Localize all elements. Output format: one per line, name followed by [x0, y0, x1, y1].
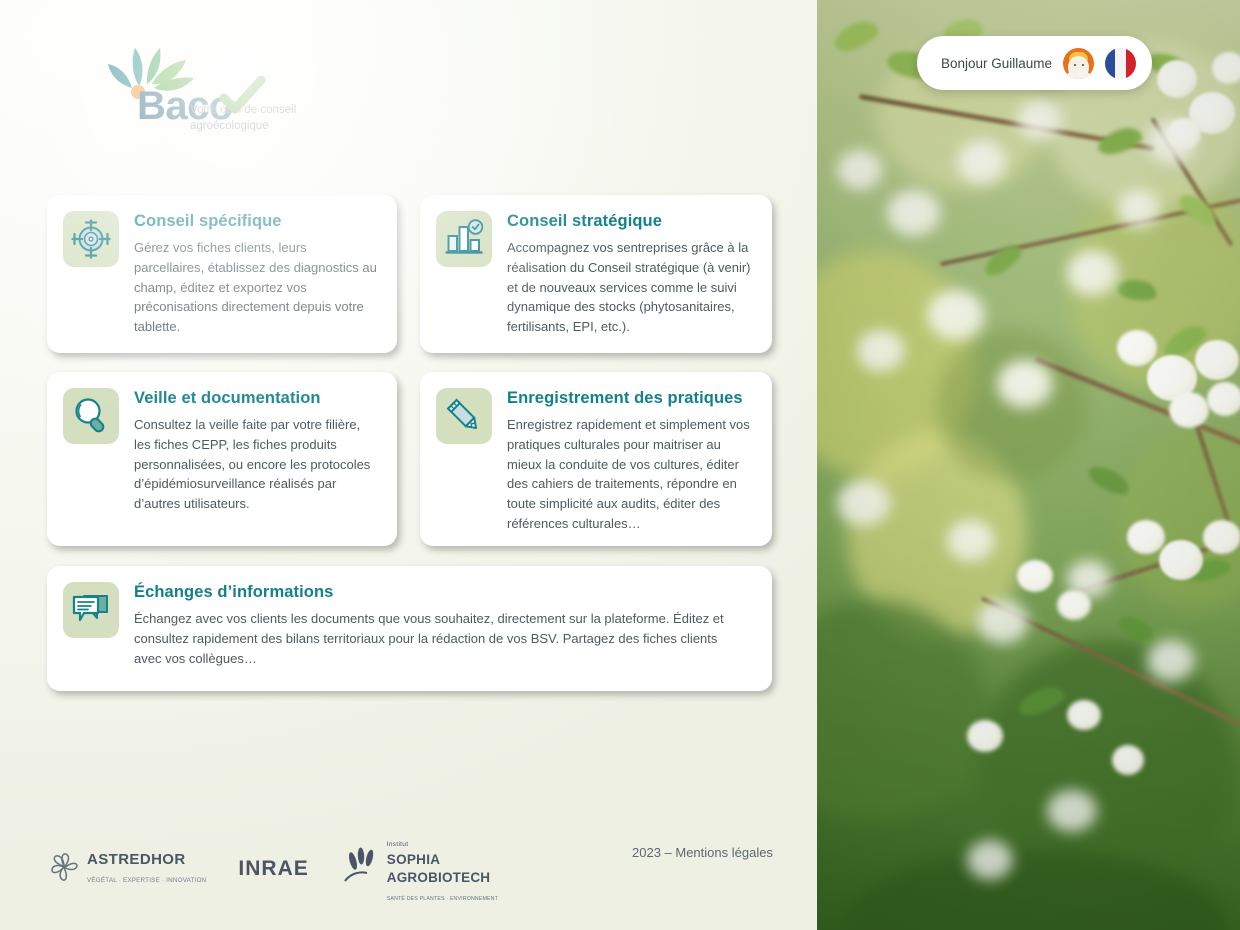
astredhor-flower-logo-icon	[47, 850, 81, 889]
partner-logo-inrae[interactable]: INRAE	[238, 857, 308, 881]
sophia-institut-label: Institut	[387, 841, 409, 848]
avatar-eye-left	[1074, 64, 1076, 66]
card-veille-documentation[interactable]: Veille et documentation Consultez la vei…	[47, 372, 397, 546]
card-title: Conseil spécifique	[134, 212, 379, 231]
chat-bubbles-icon	[63, 582, 119, 638]
brand-tagline: Votre outil de conseil agroécologique	[190, 103, 325, 134]
sophia-name: SOPHIA	[387, 852, 441, 867]
hero-photo	[817, 0, 1240, 930]
target-icon	[63, 211, 119, 267]
bar-chart-check-icon	[436, 211, 492, 267]
sophia-agrobiotech-name: AGROBIOTECH	[387, 870, 490, 885]
card-title: Veille et documentation	[134, 389, 379, 408]
card-echanges-informations[interactable]: Échanges d’informations Échangez avec vo…	[47, 566, 772, 691]
card-conseil-specifique[interactable]: Conseil spécifique Gérez vos fiches clie…	[47, 195, 397, 353]
astredhor-name: ASTREDHOR	[87, 851, 186, 868]
card-title: Échanges d’informations	[134, 583, 754, 602]
card-text: Enregistrez rapidement et simplement vos…	[507, 415, 754, 534]
card-title: Conseil stratégique	[507, 212, 754, 231]
card-conseil-strategique[interactable]: Conseil stratégique Accompagnez vos sent…	[420, 195, 772, 353]
card-enregistrement-pratiques[interactable]: Enregistrement des pratiques Enregistrez…	[420, 372, 772, 546]
partner-logo-sophia-agrobiotech[interactable]: Institut SOPHIA AGROBIOTECH SANTÉ DES PL…	[341, 833, 498, 905]
pencil-icon	[436, 388, 492, 444]
card-text: Gérez vos fiches clients, leurs parcella…	[134, 238, 379, 337]
legal-notice-link[interactable]: 2023 – Mentions légales	[632, 845, 773, 860]
card-text: Accompagnez vos sentreprises grâce à la …	[507, 238, 754, 337]
greeting-text: Bonjour Guillaume	[941, 56, 1052, 71]
sophia-leaves-logo-icon	[341, 845, 381, 894]
card-text: Échangez avec vos clients les documents …	[134, 609, 744, 668]
partner-logo-astredhor[interactable]: ASTREDHOR VÉGÉTAL · EXPERTISE · INNOVATI…	[47, 850, 206, 889]
avatar-eye-right	[1082, 64, 1084, 66]
partner-logos: ASTREDHOR VÉGÉTAL · EXPERTISE · INNOVATI…	[47, 838, 498, 900]
astredhor-subtitle: VÉGÉTAL · EXPERTISE · INNOVATION	[87, 877, 206, 884]
greeting-pill[interactable]: Bonjour Guillaume	[917, 36, 1152, 90]
magnifier-icon	[63, 388, 119, 444]
left-content-panel: Baco Votre outil de conseil agroécologiq…	[0, 0, 817, 930]
flag-france-icon[interactable]	[1105, 48, 1136, 79]
avatar-shirt	[1065, 72, 1092, 79]
sophia-subtitle: SANTÉ DES PLANTES · ENVIRONNEMENT	[387, 896, 498, 902]
inrae-name: INRAE	[238, 857, 308, 881]
user-avatar[interactable]	[1063, 48, 1094, 79]
card-title: Enregistrement des pratiques	[507, 389, 754, 408]
card-text: Consultez la veille faite par votre fili…	[134, 415, 379, 514]
brand-logo[interactable]: Baco Votre outil de conseil agroécologiq…	[72, 38, 402, 143]
